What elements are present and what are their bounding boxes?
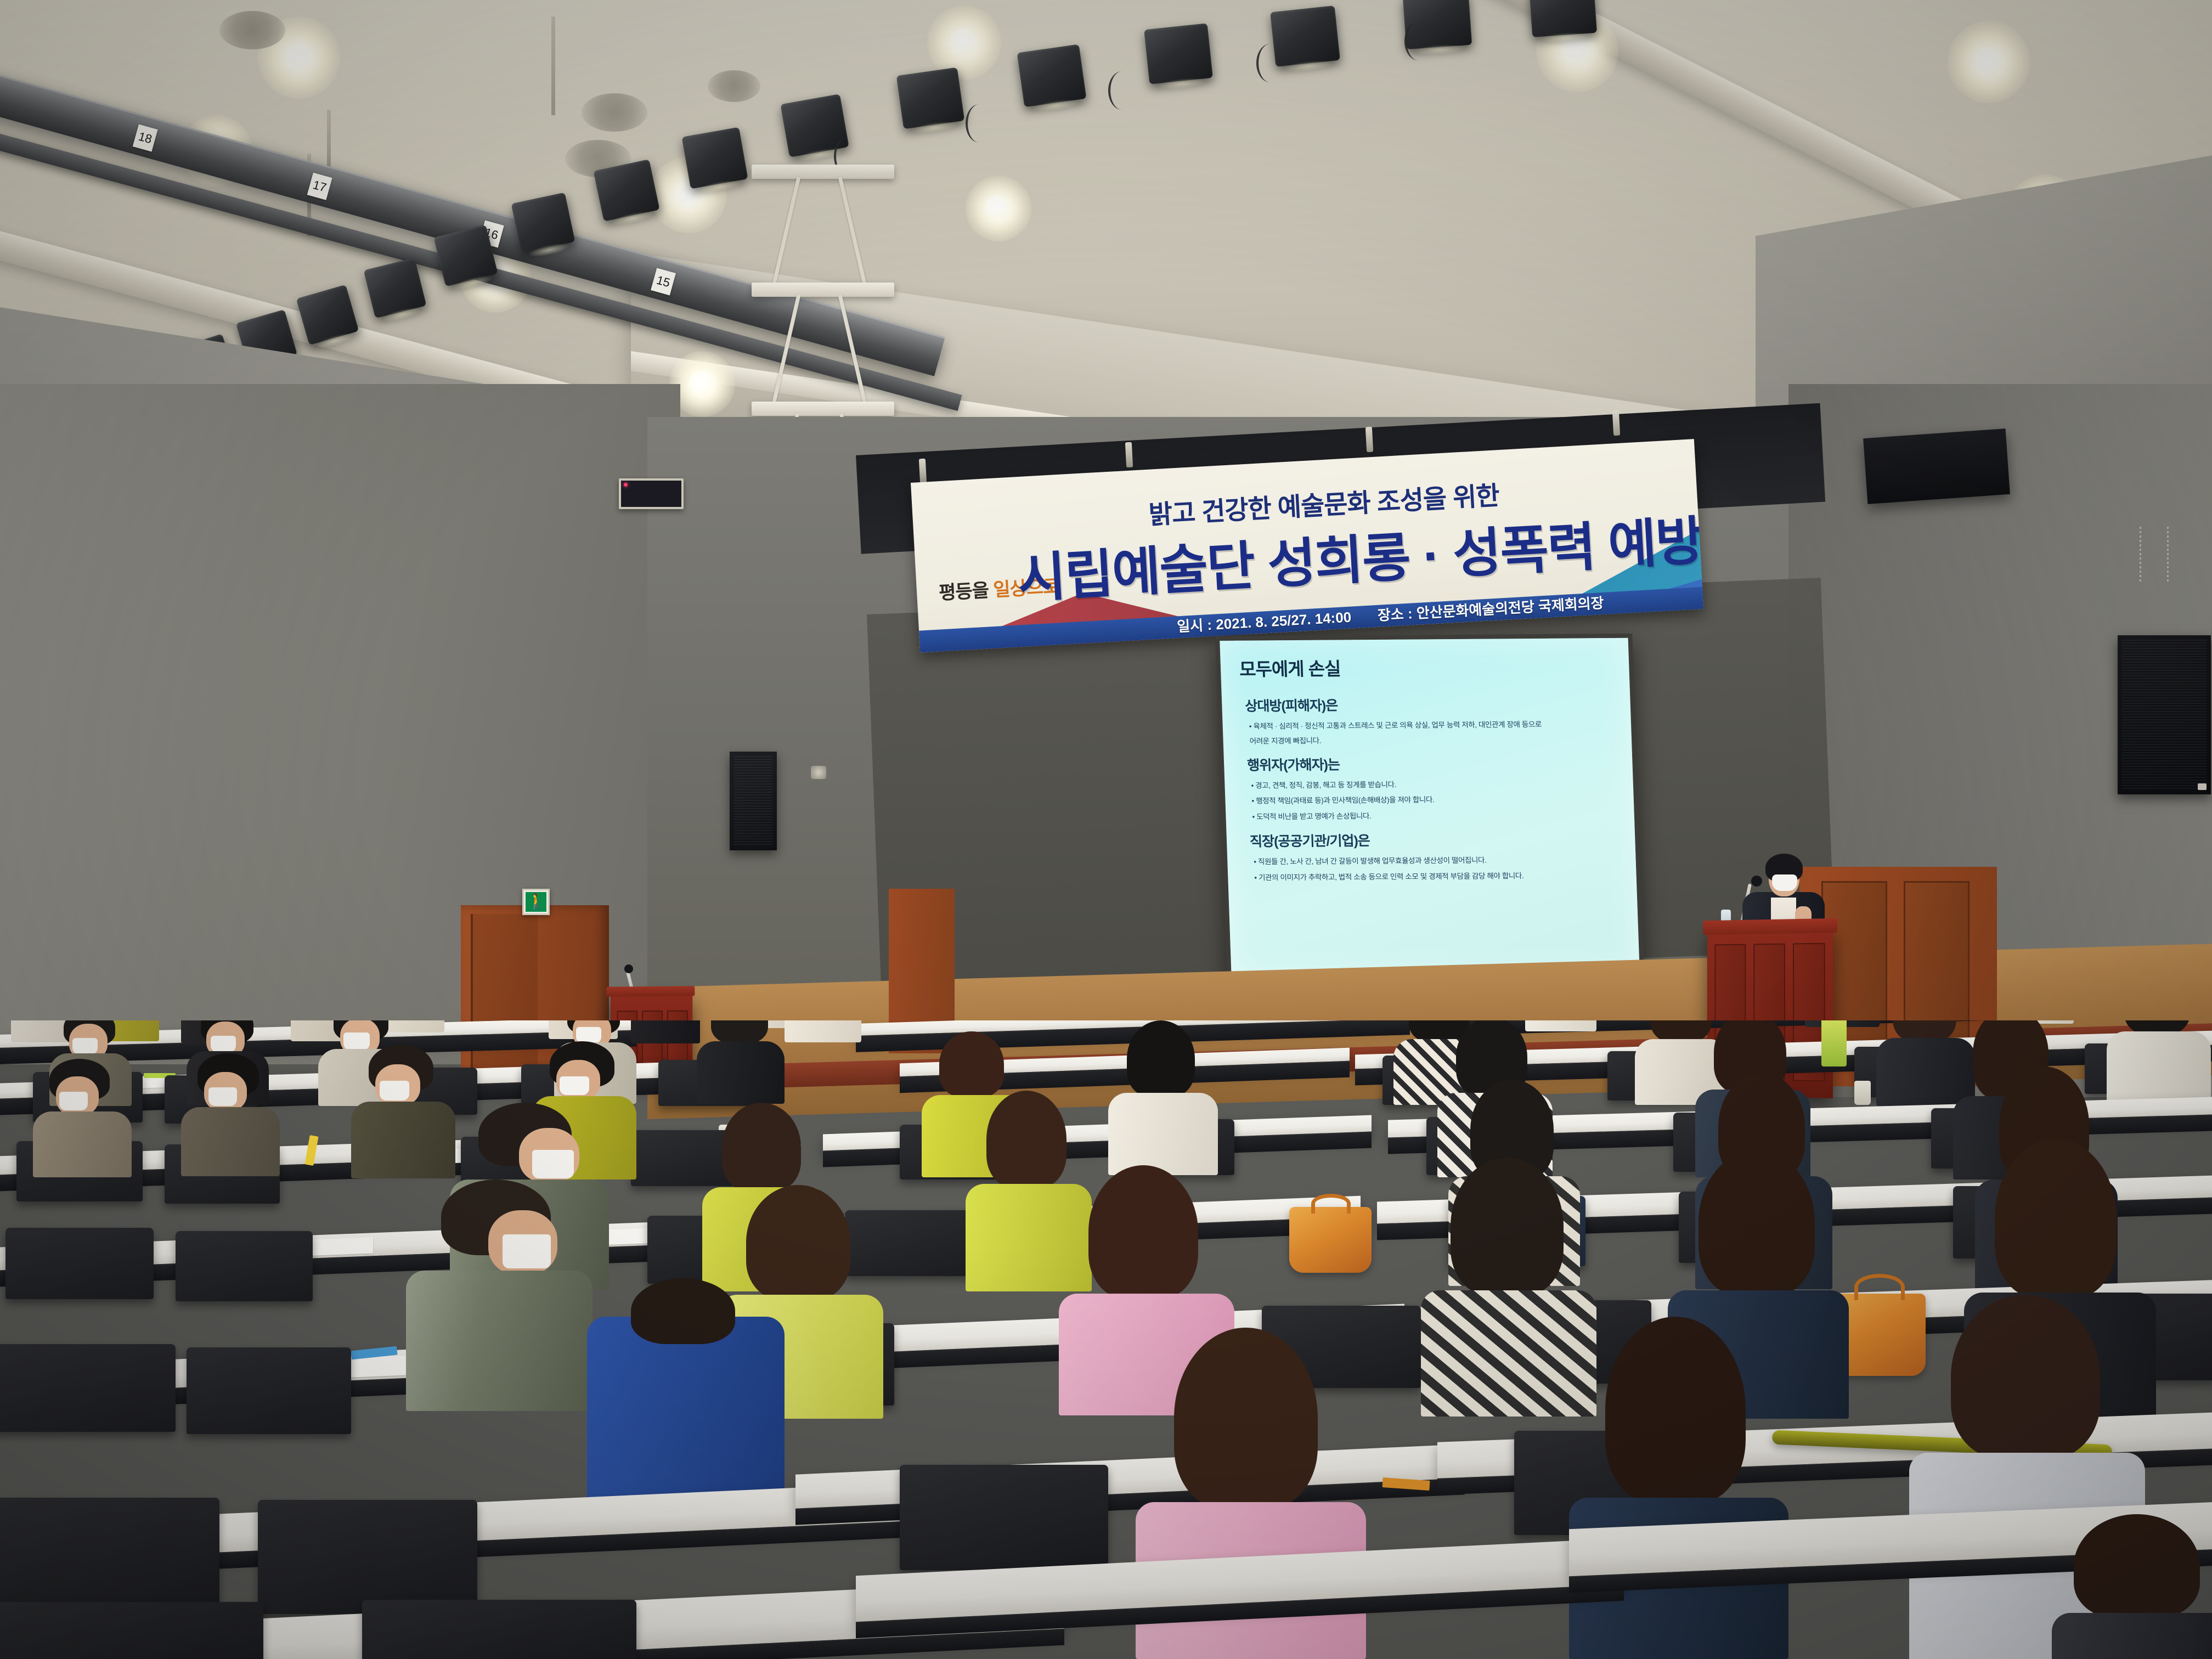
attendee-hair: [986, 1091, 1066, 1188]
paper-cup: [1854, 1081, 1871, 1105]
power-cable: [1108, 71, 1136, 110]
attendee-hair: [2074, 1514, 2200, 1618]
attendee-hair: [939, 1031, 1004, 1097]
ceiling-downlight: [950, 29, 975, 54]
lift-plate: [752, 165, 894, 179]
microphone-head-icon: [624, 964, 633, 973]
attendee-hair: [1951, 1295, 2100, 1459]
attendee-face-mask: [208, 1087, 237, 1106]
attendee-hair: [631, 1278, 735, 1344]
banner-hook: [1365, 427, 1373, 453]
truss-label-15: 15: [651, 268, 676, 295]
slide-bullet: 육체적 · 심리적 · 정신적 고통과 스트레스 및 근로 의욕 상실, 업무 …: [1249, 719, 1615, 732]
power-cable: [1404, 22, 1432, 60]
stage-light-fixture: [896, 67, 965, 129]
stage-light-fixture: [593, 159, 659, 222]
exit-sign-face: 🚶: [526, 892, 546, 912]
attendee: [1569, 1317, 1788, 1657]
attendee-hair: [1699, 1150, 1815, 1296]
attendee: [785, 1020, 861, 1037]
attendee-torso: [587, 1317, 785, 1503]
speaker-grill: [734, 756, 772, 846]
attendee-face-mask: [532, 1150, 574, 1178]
attendee-torso: [351, 1102, 455, 1178]
attendee-torso: [33, 1111, 132, 1177]
lift-plate: [752, 283, 894, 297]
attendee-hair: [1174, 1328, 1318, 1509]
handbag-handle: [1311, 1194, 1351, 1214]
attendee: [2107, 1020, 2211, 1105]
handbag-handle: [1854, 1274, 1905, 1300]
sprinkler-pipe: [327, 110, 331, 170]
attendee-face-mask: [380, 1081, 409, 1101]
stage-light-fixture: [511, 193, 575, 253]
stage-light-fixture: [1017, 44, 1087, 108]
stage-light-fixture: [1529, 0, 1597, 37]
attendee-face-mask: [560, 1076, 589, 1095]
speaker-grill: [2122, 640, 2207, 790]
attendee-torso: [1108, 1093, 1218, 1175]
truss-label-18: 18: [133, 124, 158, 151]
attendee: [406, 1180, 592, 1410]
banner-hook: [1612, 410, 1620, 436]
attendee: [2052, 1514, 2212, 1659]
slide-bullet: 도덕적 비난을 받고 명예가 손상됩니다.: [1252, 809, 1618, 822]
attendee: [181, 1053, 280, 1174]
slide-bullet: 경고, 견책, 정직, 감봉, 해고 등 징계를 받습니다.: [1251, 777, 1617, 791]
lectern-top: [606, 986, 695, 996]
attendee: [697, 1020, 785, 1103]
stage-light-fixture: [681, 127, 748, 189]
attendee: [587, 1278, 785, 1498]
banner-hook: [919, 459, 927, 484]
ceiling-downlight: [689, 371, 712, 394]
ceiling-vent: [708, 70, 760, 102]
attendee-face-mask: [211, 1036, 236, 1052]
attendee: [1108, 1020, 1218, 1174]
chair: [5, 1228, 154, 1299]
attendee-face-mask: [503, 1234, 551, 1268]
attendee-hair: [1995, 1139, 2117, 1298]
attendee-hair: [1127, 1020, 1195, 1097]
attendee: [631, 1020, 700, 1039]
attendee: [33, 1059, 132, 1174]
screen-surface: 모두에게 손실 상대방(피해자)은 육체적 · 심리적 · 정신적 고통과 스트…: [1220, 638, 1640, 978]
chair: [0, 1602, 263, 1659]
power-cable: [1256, 44, 1284, 82]
attendee-torso: [697, 1041, 785, 1104]
attendee-hair: [1605, 1317, 1746, 1503]
chair: [362, 1600, 636, 1659]
wall-monitor: [619, 478, 684, 509]
slide-heading-workplace: 직장(공공기관/기업)은: [1249, 828, 1619, 851]
banner-date-label: 일시 :: [1177, 617, 1212, 635]
ceiling-vent: [219, 11, 285, 49]
attendee-hair: [722, 1103, 801, 1192]
banner-slogan-bold: 평등을: [938, 580, 989, 603]
exit-sign-icon: 🚶: [522, 889, 550, 915]
presentation-slide: 모두에게 손실 상대방(피해자)은 육체적 · 심리적 · 정신적 고통과 스트…: [1220, 638, 1640, 978]
speaker-brand-badge: [2198, 783, 2207, 790]
slide-heading-perpetrator: 행위자(가해자)는: [1247, 752, 1617, 774]
running-man-icon: 🚶: [527, 894, 546, 910]
slide-bullet: 직원들 간, 노사 간, 남녀 간 갈등이 발생해 업무효율성과 생산성이 떨어…: [1254, 854, 1620, 867]
projection-screen: 모두에게 손실 상대방(피해자)은 육체적 · 심리적 · 정신적 고통과 스트…: [1215, 634, 1644, 982]
attendee-hair: [1451, 1158, 1564, 1296]
handbag: [1289, 1207, 1372, 1273]
green-carton: [1821, 1020, 1847, 1066]
chair: [176, 1231, 313, 1301]
chair: [258, 1500, 477, 1614]
attendee-torso: [2107, 1031, 2211, 1106]
truss-label-17: 17: [307, 173, 332, 200]
attendee-torso: [785, 1020, 861, 1042]
slide-title: 모두에게 손실: [1239, 652, 1613, 681]
attendee-torso: [406, 1271, 592, 1411]
chair: [0, 1498, 219, 1613]
wall-speaker-right: [2118, 635, 2211, 794]
lift-plate: [752, 402, 894, 416]
wall-light-fixture: [811, 766, 826, 779]
stage-light-fixture: [1144, 23, 1213, 84]
ceiling-vent: [582, 93, 647, 132]
auditorium-photo: 18 17 16 15: [0, 0, 2212, 1659]
sprinkler-pipe: [551, 16, 555, 115]
lift-scissor-arm: [772, 295, 801, 402]
lift-scissor-arm: [772, 177, 801, 284]
slide-heading-victim: 상대방(피해자)은: [1245, 693, 1615, 715]
attendee-torso: [2052, 1613, 2212, 1659]
ceiling-downlight: [284, 43, 313, 71]
attendee-hair: [711, 1020, 768, 1043]
hanging-monitor: [1863, 428, 2010, 504]
slide-bullet-continuation: 어려운 지경에 빠집니다.: [1249, 732, 1615, 746]
power-cable: [966, 104, 993, 143]
ceiling-downlight: [985, 195, 1007, 217]
wall-speaker-left: [730, 752, 777, 850]
chair: [0, 1344, 176, 1432]
attendee-face-mask: [72, 1038, 98, 1054]
banner-hook: [1125, 442, 1133, 468]
chair: [900, 1465, 1108, 1570]
lift-scissor-arm: [838, 177, 867, 284]
lift-scissor-arm: [838, 295, 867, 402]
ceiling-downlight: [1974, 47, 2001, 75]
attendee-torso: [631, 1020, 700, 1043]
attendee-hair: [1088, 1165, 1198, 1299]
podium-top: [1703, 918, 1837, 935]
attendee-torso: [181, 1107, 280, 1176]
chair: [187, 1347, 351, 1434]
presenter-face-mask: [1772, 874, 1797, 891]
attendee: [351, 1045, 455, 1176]
audience-seating: [0, 1020, 2212, 1659]
speaker-hanging-chain: [2167, 527, 2169, 582]
speaker-hanging-chain: [2140, 527, 2141, 582]
slide-bullet: 기관의 이미지가 추락하고, 법적 소송 등으로 인력 소모 및 경제적 부담을…: [1254, 870, 1620, 883]
attendee-face-mask: [59, 1092, 88, 1110]
slide-bullet: 행정적 책임(과태료 등)과 민사책임(손해배상)을 져야 합니다.: [1251, 793, 1617, 806]
banner-place-label: 장소 :: [1377, 605, 1413, 624]
power-led-icon: [624, 483, 628, 487]
